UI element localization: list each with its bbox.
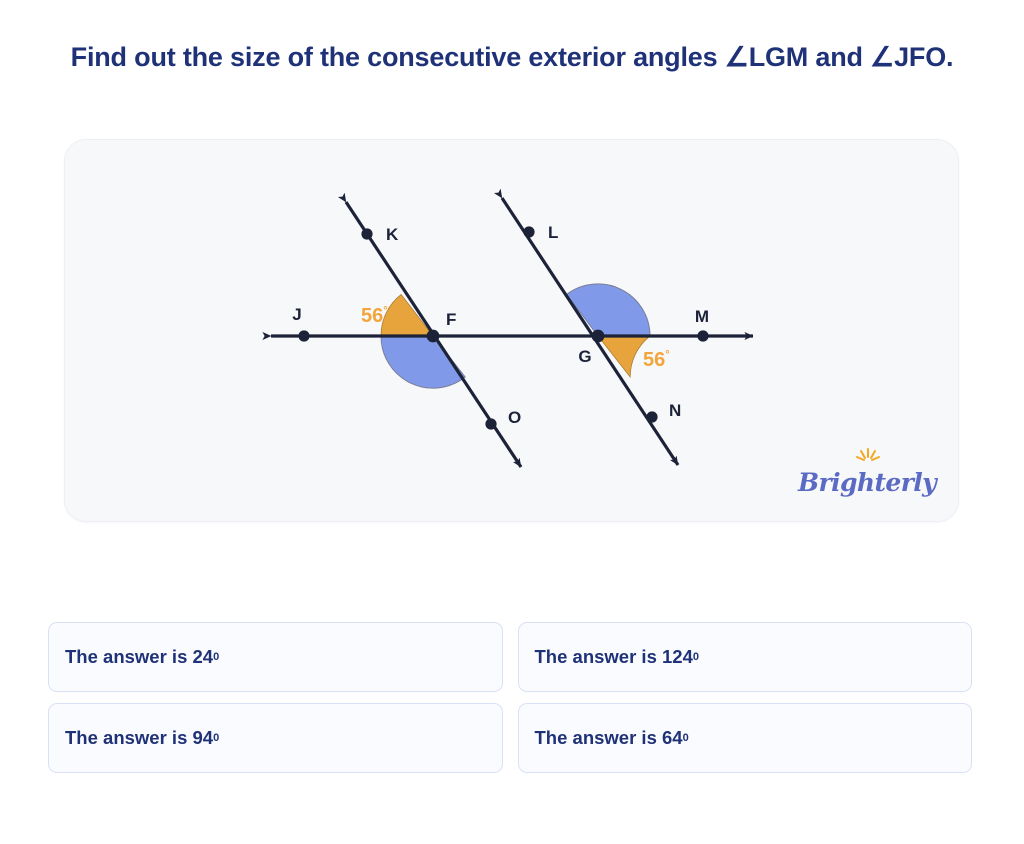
question-page: Find out the size of the consecutive ext… (0, 0, 1024, 844)
point-label-m: M (695, 307, 709, 326)
point-dot-n (646, 411, 657, 422)
point-dot-o (485, 418, 496, 429)
oblique-line-ln (502, 198, 678, 465)
brand-name: Brighterly (798, 468, 928, 497)
answer-option-a-label: The answer is 24 (65, 646, 213, 668)
point-dot-m (697, 330, 708, 341)
point-dot-j (298, 330, 309, 341)
point-label-o: O (508, 408, 521, 427)
answer-option-a[interactable]: The answer is 240 (48, 622, 503, 692)
point-label-j: J (292, 305, 301, 324)
answer-option-d-label: The answer is 64 (535, 727, 683, 749)
angle-value-right: 56° (643, 349, 670, 371)
point-label-f: F (446, 310, 456, 329)
sunburst-icon (855, 447, 881, 467)
page-title: Find out the size of the consecutive ext… (52, 38, 972, 77)
brand-logo: Brighterly (798, 447, 928, 499)
answer-options-grid: The answer is 240 The answer is 1240 The… (48, 622, 972, 773)
point-dot-k (361, 228, 372, 239)
angle-sector-lgm-blue (567, 284, 650, 336)
answer-option-c-label: The answer is 94 (65, 727, 213, 749)
answer-option-d[interactable]: The answer is 640 (518, 703, 973, 773)
answer-option-c[interactable]: The answer is 940 (48, 703, 503, 773)
angle-sector-56-left-orange (381, 295, 433, 337)
point-label-l: L (548, 223, 558, 242)
point-dot-l (523, 226, 534, 237)
answer-option-b[interactable]: The answer is 1240 (518, 622, 973, 692)
point-dot-f (427, 330, 440, 343)
point-label-g: G (578, 347, 591, 366)
point-label-k: K (386, 225, 399, 244)
figure-card: J K F O L G N M 56° 56° (64, 139, 959, 522)
answer-option-b-label: The answer is 124 (535, 646, 693, 668)
point-dot-g (592, 330, 605, 343)
point-label-n: N (669, 401, 681, 420)
